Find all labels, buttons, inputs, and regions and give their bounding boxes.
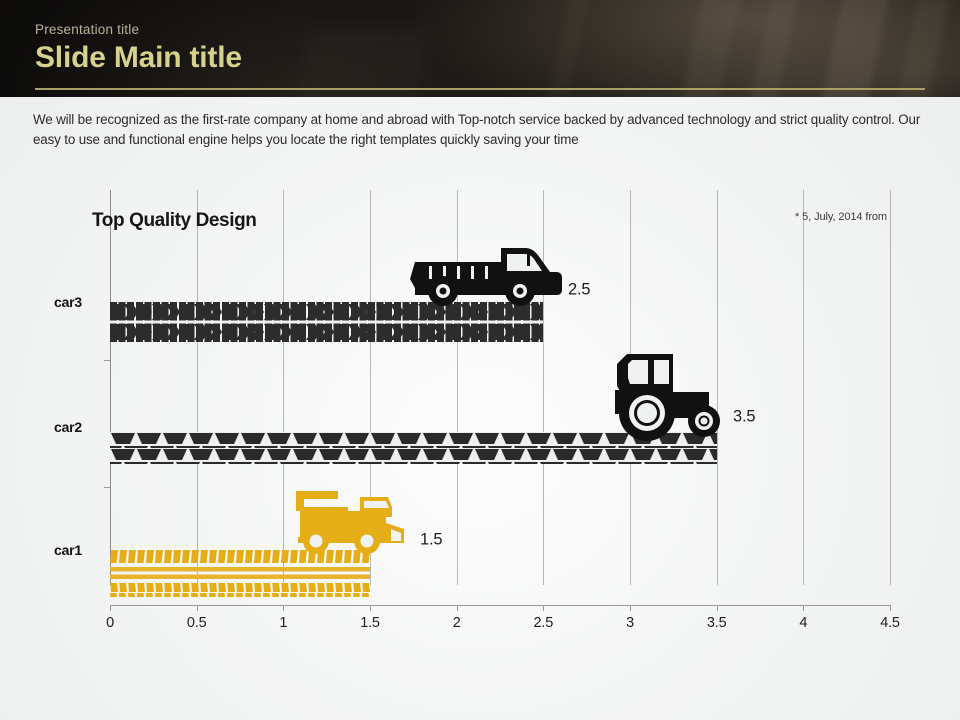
x-axis-tick-label: 4.5 — [880, 615, 900, 631]
y-axis-label-car3: car3 — [54, 294, 82, 310]
y-axis-label-car2: car2 — [54, 419, 82, 435]
chart-title: Top Quality Design — [92, 210, 257, 232]
chart-source-note: * 5, July, 2014 from — [795, 211, 887, 223]
x-axis-tick — [457, 605, 458, 611]
presentation-title: Presentation title — [35, 22, 242, 38]
x-axis-tick-label: 1.5 — [360, 615, 380, 631]
plot-area: 2.5 3.5 — [110, 210, 890, 605]
header-texture-streak — [543, 0, 597, 97]
x-axis-tick — [890, 605, 891, 611]
bar-chart: Top Quality Design * 5, July, 2014 from … — [0, 190, 960, 660]
gold-tread-icon — [110, 550, 370, 597]
x-axis-tick-label: 0 — [106, 615, 114, 631]
gridline — [890, 190, 891, 585]
bar-car3[interactable] — [110, 302, 543, 342]
dump-truck-icon — [407, 244, 562, 306]
x-axis-tick-label: 0.5 — [187, 615, 207, 631]
value-label-car2: 3.5 — [733, 408, 755, 427]
tractor-icon — [605, 350, 723, 442]
value-label-car1: 1.5 — [420, 531, 442, 550]
x-axis-tick — [197, 605, 198, 611]
x-axis-tick-label: 4 — [799, 615, 807, 631]
header-divider — [35, 88, 925, 90]
x-axis-tick-label: 2.5 — [534, 615, 554, 631]
bar-car1[interactable] — [110, 550, 370, 597]
x-axis-tick — [803, 605, 804, 611]
x-axis-tick — [543, 605, 544, 611]
x-axis-tick-label: 2 — [453, 615, 461, 631]
x-axis-tick — [717, 605, 718, 611]
chevron-tread-icon — [110, 322, 543, 342]
x-axis-tick — [630, 605, 631, 611]
header-texture-streak — [815, 0, 891, 97]
value-label-car3: 2.5 — [568, 281, 590, 300]
body-paragraph: We will be recognized as the first-rate … — [33, 110, 923, 149]
combine-harvester-icon — [288, 483, 406, 555]
header-texture-streak — [674, 0, 744, 97]
y-axis-label-car1: car1 — [54, 542, 82, 558]
header-texture-streak — [742, 0, 804, 97]
x-axis-tick-label: 1 — [279, 615, 287, 631]
x-axis-line — [110, 605, 891, 606]
header-texture-streak — [891, 0, 949, 97]
header-title-block: Presentation title Slide Main title — [35, 22, 242, 76]
page-title: Slide Main title — [35, 40, 242, 76]
x-axis-tick — [110, 605, 111, 611]
x-axis-tick — [370, 605, 371, 611]
slide-canvas: Presentation title Slide Main title We w… — [0, 0, 960, 720]
x-axis-tick-label: 3 — [626, 615, 634, 631]
tread-row-bottom — [110, 322, 543, 342]
x-axis-tick — [283, 605, 284, 611]
slide-header: Presentation title Slide Main title — [0, 0, 960, 97]
header-texture-streak — [290, 30, 429, 97]
x-axis-tick-label: 3.5 — [707, 615, 727, 631]
